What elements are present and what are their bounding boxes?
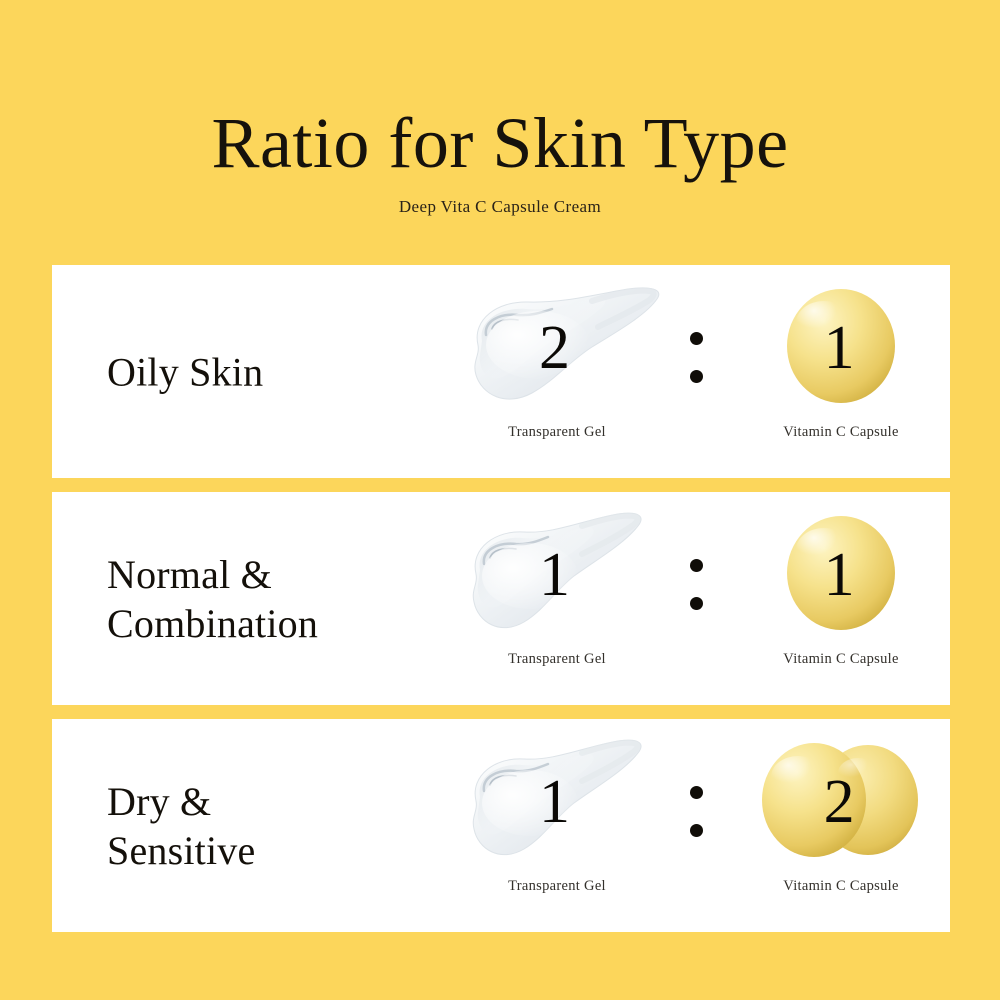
capsule-visual: 1 bbox=[732, 510, 950, 640]
header: Ratio for Skin Type Deep Vita C Capsule … bbox=[0, 0, 1000, 218]
ratio-group: 1 Transparent Gel bbox=[412, 492, 950, 705]
gel-count: 1 bbox=[539, 544, 570, 606]
capsule-count: 1 bbox=[824, 544, 855, 606]
capsule-caption: Vitamin C Capsule bbox=[732, 877, 950, 895]
gel-count: 2 bbox=[539, 317, 570, 379]
colon-dot-bottom bbox=[690, 370, 703, 383]
skin-type-label: Normal & Combination bbox=[107, 550, 318, 648]
colon-dot-top bbox=[690, 559, 703, 572]
skin-type-label: Dry & Sensitive bbox=[107, 777, 255, 875]
gel-side: 1 Transparent Gel bbox=[442, 492, 672, 705]
capsule-side: 2 Vitamin C Capsule bbox=[732, 719, 950, 932]
ratio-separator bbox=[687, 551, 709, 619]
gel-caption: Transparent Gel bbox=[442, 877, 672, 895]
gel-visual: 1 bbox=[442, 510, 672, 640]
capsule-count: 1 bbox=[824, 317, 855, 379]
capsule-caption: Vitamin C Capsule bbox=[732, 650, 950, 668]
colon-dot-top bbox=[690, 332, 703, 345]
capsule-visual: 1 bbox=[732, 283, 950, 413]
capsule-visual: 2 bbox=[732, 737, 950, 867]
capsule-count: 2 bbox=[824, 771, 855, 833]
page-subtitle: Deep Vita C Capsule Cream bbox=[0, 196, 1000, 218]
capsule-side: 1 Vitamin C Capsule bbox=[732, 492, 950, 705]
gel-caption: Transparent Gel bbox=[442, 423, 672, 441]
infographic-page: Ratio for Skin Type Deep Vita C Capsule … bbox=[0, 0, 1000, 1000]
colon-dot-top bbox=[690, 786, 703, 799]
ratio-card-list: Oily Skin bbox=[52, 265, 950, 932]
gel-visual: 2 bbox=[442, 283, 672, 413]
gel-count: 1 bbox=[539, 771, 570, 833]
page-title: Ratio for Skin Type bbox=[0, 104, 1000, 182]
capsule-caption: Vitamin C Capsule bbox=[732, 423, 950, 441]
ratio-card: Dry & Sensitive bbox=[52, 719, 950, 932]
ratio-group: 1 Transparent Gel bbox=[412, 719, 950, 932]
gel-side: 1 Transparent Gel bbox=[442, 719, 672, 932]
gel-caption: Transparent Gel bbox=[442, 650, 672, 668]
gel-visual: 1 bbox=[442, 737, 672, 867]
colon-dot-bottom bbox=[690, 824, 703, 837]
gel-side: 2 Transparent Gel bbox=[442, 265, 672, 478]
ratio-card: Oily Skin bbox=[52, 265, 950, 478]
ratio-separator bbox=[687, 324, 709, 392]
colon-dot-bottom bbox=[690, 597, 703, 610]
skin-type-label: Oily Skin bbox=[107, 347, 263, 396]
capsule-side: 1 Vitamin C Capsule bbox=[732, 265, 950, 478]
ratio-separator bbox=[687, 778, 709, 846]
ratio-card: Normal & Combination bbox=[52, 492, 950, 705]
ratio-group: 2 Transparent Gel bbox=[412, 265, 950, 478]
